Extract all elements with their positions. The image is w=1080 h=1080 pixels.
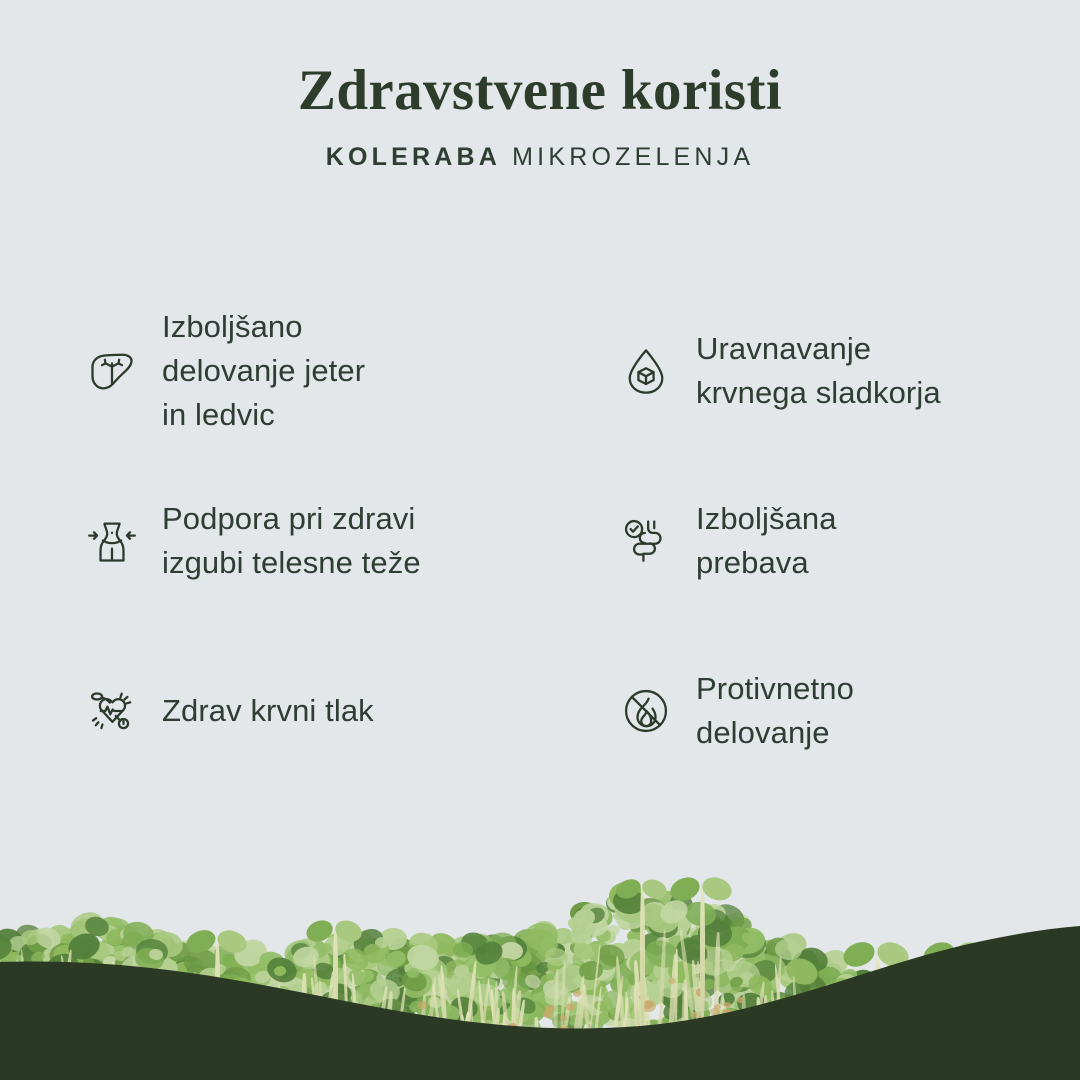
benefit-item-anti-inflammatory: Protivnetno delovanje — [540, 626, 1060, 796]
benefit-item-weight-loss: Podpora pri zdravi izgubi telesne teže — [20, 456, 540, 626]
benefit-item-digestion: Izboljšana prebava — [540, 456, 1060, 626]
slim-waist-icon — [84, 513, 140, 569]
benefit-label: Uravnavanje krvnega sladkorja — [696, 327, 941, 415]
benefit-item-blood-pressure: Zdrav krvni tlak — [20, 626, 540, 796]
page-title: Zdravstvene koristi — [0, 60, 1080, 123]
microgreens-photo-band — [0, 780, 1080, 1080]
benefit-label: Zdrav krvni tlak — [162, 689, 374, 733]
blood-sugar-drop-icon — [618, 343, 674, 399]
benefit-item-blood-sugar: Uravnavanje krvnega sladkorja — [540, 286, 1060, 456]
benefits-grid: Izboljšano delovanje jeter in ledvic Ura… — [0, 286, 1080, 796]
heart-pressure-gauge-icon — [84, 683, 140, 739]
benefit-label: Protivnetno delovanje — [696, 667, 854, 755]
liver-icon — [84, 343, 140, 399]
infographic-poster: Zdravstvene koristi KOLERABA MIKROZELENJ… — [0, 0, 1080, 1080]
benefit-item-liver-kidney: Izboljšano delovanje jeter in ledvic — [20, 286, 540, 456]
page-subtitle: KOLERABA MIKROZELENJA — [0, 143, 1080, 172]
benefit-label: Izboljšano delovanje jeter in ledvic — [162, 305, 365, 437]
benefit-label: Izboljšana prebava — [696, 497, 837, 585]
intestines-check-icon — [618, 513, 674, 569]
subtitle-light: MIKROZELENJA — [512, 143, 754, 171]
header: Zdravstvene koristi KOLERABA MIKROZELENJ… — [0, 60, 1080, 172]
no-flame-icon — [618, 683, 674, 739]
dark-wave-band — [0, 850, 1080, 1080]
benefit-label: Podpora pri zdravi izgubi telesne teže — [162, 497, 421, 585]
subtitle-strong: KOLERABA — [326, 143, 501, 171]
